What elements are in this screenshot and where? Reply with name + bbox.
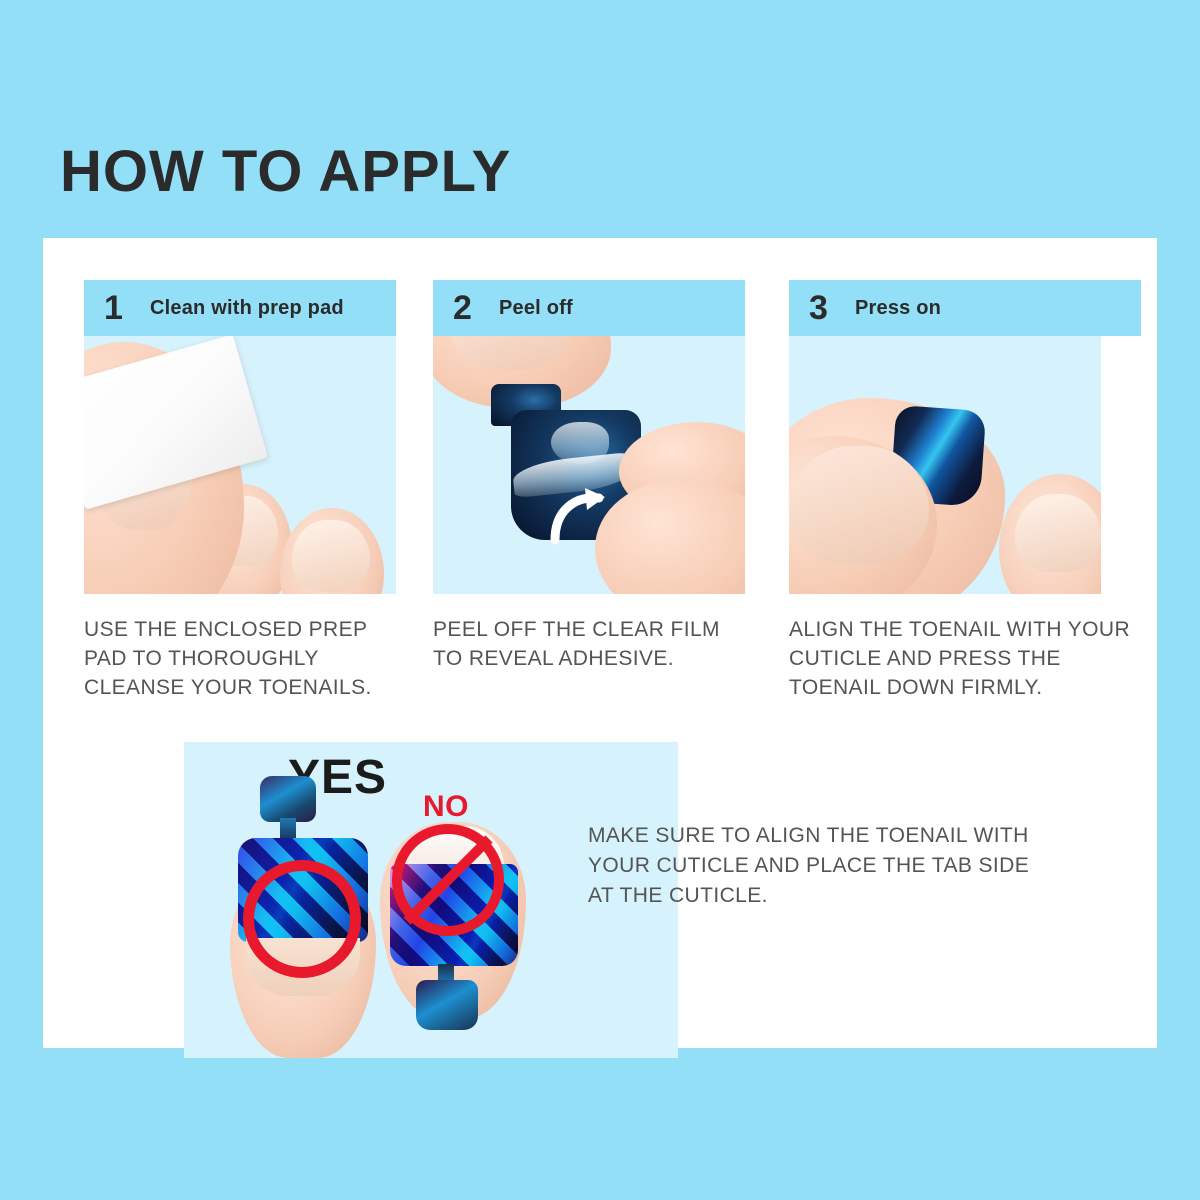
step-2-label: Peel off (499, 297, 573, 320)
step-1-number: 1 (104, 291, 150, 325)
page-title: HOW TO APPLY (60, 143, 511, 201)
step-3-header: 3 Press on (789, 280, 1141, 336)
step-3-label: Press on (855, 297, 941, 320)
step-2-caption: PEEL OFF THE CLEAR FILM TO REVEAL ADHESI… (433, 616, 745, 674)
no-label: NO (423, 792, 469, 822)
step-1-header: 1 Clean with prep pad (84, 280, 396, 336)
clear-film-highlight (551, 422, 609, 464)
step-3-caption: ALIGN THE TOENAIL WITH YOUR CUTICLE AND … (789, 616, 1141, 703)
step-3: 3 Press on ALIGN THE TOENAIL WITH YOUR C… (789, 280, 1141, 703)
step-3-photo (789, 336, 1101, 594)
step-1: 1 Clean with prep pad USE THE ENCLOSED P… (84, 280, 396, 703)
thumbnail (789, 446, 929, 564)
step-2: 2 Peel off (433, 280, 745, 674)
peel-direction-arrow (545, 484, 617, 546)
step-1-label: Clean with prep pad (150, 297, 344, 320)
instructions-card: 1 Clean with prep pad USE THE ENCLOSED P… (43, 238, 1157, 1048)
step-3-number: 3 (809, 291, 855, 325)
step-2-header: 2 Peel off (433, 280, 745, 336)
step-1-photo (84, 336, 396, 594)
correct-highlight-circle (243, 860, 361, 978)
step-2-photo (433, 336, 745, 594)
no-strip-tab (416, 980, 478, 1030)
toenail-small-2 (292, 520, 370, 592)
prohibited-sign (392, 824, 504, 936)
yes-strip-tab (260, 776, 316, 822)
step-2-number: 2 (453, 291, 499, 325)
adjacent-toenail (1015, 494, 1101, 572)
step-1-caption: USE THE ENCLOSED PREP PAD TO THOROUGHLY … (84, 616, 396, 703)
comparison-caption: MAKE SURE TO ALIGN THE TOENAIL WITH YOUR… (588, 821, 1058, 910)
